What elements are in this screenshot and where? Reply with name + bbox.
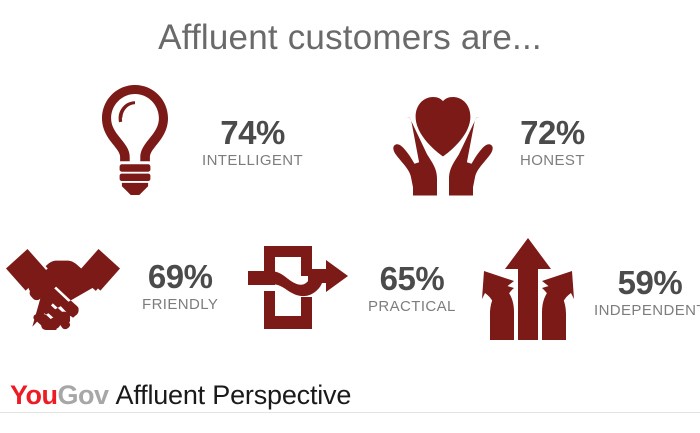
footer-divider [0,412,700,413]
stat-honest-label: HONEST [520,151,585,171]
page-title: Affluent customers are... [0,16,700,60]
stat-practical-percent: 65% [380,261,445,297]
hands-holding-heart-icon [392,84,494,201]
stat-intelligent: 74% INTELLIGENT [92,84,303,201]
product-name: Affluent Perspective [116,378,352,412]
yougov-logo-gov: Gov [58,378,109,412]
stat-friendly: 69% FRIENDLY [4,238,218,335]
stat-independent-percent: 59% [618,265,683,301]
stat-independent-label: INDEPENDENT [594,301,700,321]
stat-practical: 65% PRACTICAL [248,238,456,339]
stat-practical-text: 65% PRACTICAL [368,261,456,317]
stat-practical-label: PRACTICAL [368,297,456,317]
handshake-icon [4,238,122,335]
footer-branding: YouGov Affluent Perspective [10,378,351,412]
stat-intelligent-percent: 74% [220,115,285,151]
stat-friendly-label: FRIENDLY [142,295,218,315]
lightbulb-icon [92,84,178,201]
winding-arrow-icon [248,238,348,339]
infographic-canvas: Affluent customers are... 74% INTELLIGEN… [0,0,700,433]
stat-honest: 72% HONEST [392,84,585,201]
three-diverging-arrows-icon [482,238,574,347]
stat-intelligent-text: 74% INTELLIGENT [202,115,303,171]
stat-independent-text: 59% INDEPENDENT [594,265,700,321]
stat-independent: 59% INDEPENDENT [482,238,700,347]
stat-intelligent-label: INTELLIGENT [202,151,303,171]
stat-friendly-text: 69% FRIENDLY [142,259,218,315]
stat-friendly-percent: 69% [148,259,213,295]
stat-honest-percent: 72% [520,115,585,151]
stat-honest-text: 72% HONEST [520,115,585,171]
yougov-logo-you: You [10,378,58,412]
